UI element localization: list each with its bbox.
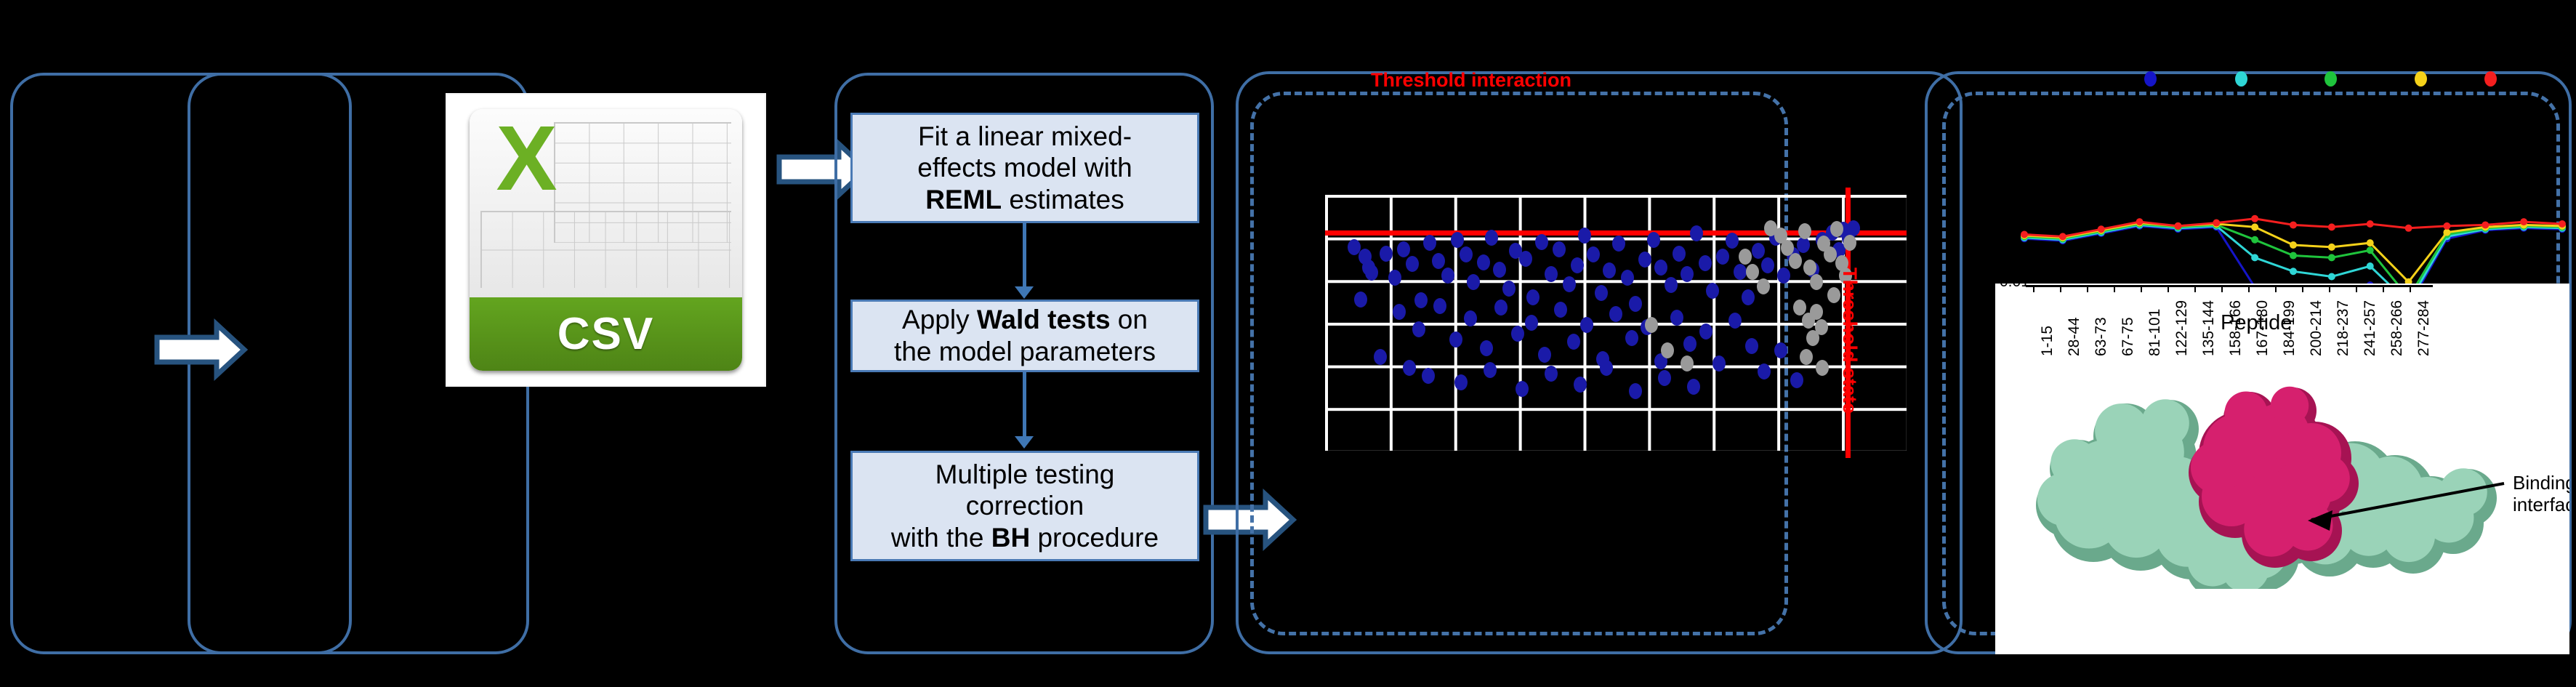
scatter-point — [1681, 355, 1694, 371]
threshold-state-label: Threshold state — [1838, 268, 1861, 414]
line-point — [2021, 231, 2028, 238]
scatter-point — [1803, 260, 1816, 276]
scatter-point — [1745, 338, 1758, 354]
line-point — [2405, 225, 2412, 232]
structure-image-card: Peptide Binding interface 1-1528-4463-73… — [1995, 284, 2569, 654]
scatter-point — [1519, 251, 1532, 267]
scatter-point — [1687, 379, 1700, 395]
scatter-point — [1580, 317, 1593, 333]
excel-x-glyph: X — [486, 113, 568, 203]
scatter-point — [1493, 262, 1506, 278]
scatter-point — [1454, 374, 1468, 390]
scatter-point — [1460, 246, 1473, 262]
scatter-point — [1798, 223, 1811, 239]
scatter-point — [1757, 278, 1770, 294]
scatter-point — [1432, 253, 1445, 269]
wald-pre: Apply — [902, 305, 977, 334]
peptide-tick-label: 184-199 — [2281, 300, 2298, 356]
scatter-point — [1789, 253, 1802, 269]
scatter-point — [1545, 266, 1558, 282]
line-point — [2136, 218, 2144, 225]
line-point — [2520, 218, 2527, 225]
peptide-tick-mark — [2275, 286, 2277, 292]
peptide-tick-mark — [2302, 286, 2303, 292]
scatter-point — [1815, 319, 1828, 335]
scatter-point — [1571, 257, 1584, 273]
legend-dot-0 — [2144, 71, 2157, 87]
line-point — [2251, 254, 2258, 261]
legend-dot-1 — [2235, 71, 2247, 87]
line-point — [2059, 233, 2066, 240]
scatter-point — [1406, 256, 1419, 272]
scatter-point — [1658, 370, 1671, 386]
scatter-point — [1843, 235, 1856, 251]
line-point — [2328, 254, 2335, 261]
scatter-point — [1810, 304, 1823, 320]
scatter-point — [1790, 372, 1803, 388]
scatter-point — [1451, 232, 1464, 248]
line-point — [2290, 241, 2297, 249]
line-point — [2367, 262, 2374, 270]
protein-structure-image — [2024, 349, 2533, 589]
scatter-point — [1348, 239, 1361, 255]
peptide-tick-mark — [2383, 286, 2384, 292]
wald-line2: the model parameters — [894, 337, 1156, 366]
line-point — [2290, 252, 2297, 260]
line-point — [2559, 220, 2566, 228]
peptide-tick-label: 135-144 — [2200, 300, 2218, 356]
csv-spreadsheet-face: X — [470, 109, 743, 297]
scatter-point — [1625, 330, 1638, 346]
scatter-point — [1734, 264, 1747, 280]
scatter-point — [1535, 234, 1548, 250]
arrow-step-1 — [154, 318, 249, 381]
csv-grid-lower — [480, 211, 732, 288]
step-fit-model-box[interactable]: Fit a linear mixed- effects model with R… — [850, 113, 1199, 223]
scatter-point — [1647, 232, 1660, 248]
scatter-point — [1403, 360, 1416, 376]
peptide-tick-mark — [2168, 286, 2169, 292]
line-point — [2328, 223, 2335, 230]
peptide-tick-mark — [2221, 286, 2223, 292]
step-correction-box[interactable]: Multiple testing correction with the BH … — [850, 451, 1199, 561]
scatter-point — [1830, 221, 1843, 237]
peptide-tick-mark — [2410, 286, 2411, 292]
scatter-point — [1484, 362, 1497, 378]
csv-icon-body: X CSV — [470, 109, 743, 371]
peptide-tick-label: 218-237 — [2335, 300, 2352, 356]
scatter-point — [1354, 292, 1367, 308]
y-axis-tick-label: 0.01 — [2000, 284, 2029, 291]
scatter-point — [1699, 255, 1712, 271]
line-point — [2482, 221, 2489, 228]
peptide-tick-mark — [2087, 286, 2088, 292]
line-point — [2174, 222, 2181, 230]
peptide-tick-mark — [2356, 286, 2357, 292]
peptide-tick-label: 277-284 — [2415, 300, 2433, 356]
line-point — [2328, 273, 2335, 281]
peptide-tick-mark — [2248, 286, 2250, 292]
connector-2 — [1023, 372, 1026, 436]
line-point — [2290, 268, 2297, 275]
fit-line2: effects model with — [917, 153, 1132, 182]
line-point — [2367, 246, 2374, 254]
scatter-point — [1774, 342, 1787, 358]
legend-dot-2 — [2325, 71, 2337, 87]
scatter-point — [1600, 360, 1613, 376]
scatter-plot[interactable] — [1325, 195, 1907, 451]
line-point — [2328, 244, 2335, 251]
scatter-point — [1578, 228, 1591, 244]
fit-bold-reml: REML — [925, 185, 1002, 214]
peptide-tick-mark — [2194, 286, 2196, 292]
step-wald-box[interactable]: Apply Wald tests on the model parameters — [850, 300, 1199, 372]
corr-bold-bh: BH — [991, 523, 1030, 553]
scatter-point — [1423, 235, 1436, 251]
connector-1-arrowhead — [1015, 286, 1034, 299]
peptide-tick-mark — [2329, 286, 2330, 292]
corr-line1: Multiple testing — [935, 459, 1115, 489]
scatter-point — [1629, 383, 1642, 399]
peptide-tick-label: 200-214 — [2308, 300, 2325, 356]
peptide-tick-label: 167-180 — [2254, 300, 2271, 356]
connector-2-arrowhead — [1015, 436, 1034, 449]
scatter-point — [1526, 289, 1539, 305]
line-point — [2213, 220, 2220, 227]
connector-1 — [1023, 223, 1026, 286]
scatter-point — [1810, 274, 1823, 290]
scatter-point — [1742, 289, 1755, 305]
peptide-tick-label: 158-166 — [2227, 300, 2245, 356]
line-point — [2443, 229, 2450, 236]
csv-file-icon[interactable]: X CSV — [447, 95, 765, 385]
scatter-point — [1374, 349, 1387, 365]
peptide-tick-mark — [2114, 286, 2115, 292]
corr-post3: procedure — [1030, 523, 1159, 553]
line-point — [2290, 221, 2297, 228]
scatter-point — [1665, 277, 1678, 293]
scatter-point — [1587, 246, 1600, 262]
scatter-point — [1516, 381, 1529, 397]
scatter-point — [1752, 243, 1765, 259]
csv-format-label: CSV — [558, 308, 654, 360]
peptide-tick-label: 258-266 — [2388, 300, 2406, 356]
scatter-point — [1433, 298, 1446, 314]
scatter-point — [1712, 355, 1726, 371]
step-wald-text: Apply Wald tests on the model parameters — [894, 304, 1156, 367]
legend-dot-3 — [2415, 71, 2427, 87]
peptide-tick-mark — [2141, 286, 2142, 292]
wald-bold: Wald tests — [977, 305, 1111, 334]
scatter-point — [1739, 249, 1752, 265]
legend-dot-4 — [2484, 71, 2497, 87]
scatter-point — [1847, 220, 1860, 236]
line-point — [2251, 223, 2258, 230]
peptide-tick-label: 122-129 — [2173, 300, 2191, 356]
scatter-point — [1654, 260, 1667, 276]
scatter-point — [1477, 254, 1490, 270]
line-point — [2367, 220, 2374, 228]
step-correction-text: Multiple testing correction with the BH … — [891, 459, 1159, 554]
peptide-tick-label: 241-257 — [2362, 300, 2379, 356]
fit-line3-tail: estimates — [1002, 185, 1124, 214]
scatter-point — [1645, 317, 1658, 333]
corr-pre3: with the — [891, 523, 991, 553]
scatter-point — [1690, 225, 1703, 241]
line-point — [2251, 236, 2258, 244]
threshold-interaction-label: Threshold interaction — [1371, 69, 1571, 92]
scatter-point — [1746, 264, 1759, 280]
scatter-point — [1681, 266, 1694, 282]
csv-format-band: CSV — [470, 297, 743, 371]
scatter-point — [1716, 249, 1729, 265]
scatter-point — [1797, 237, 1810, 253]
scatter-point — [1464, 310, 1477, 326]
line-point — [2443, 222, 2450, 230]
scatter-point — [1764, 220, 1777, 236]
scatter-point — [1816, 360, 1829, 376]
scatter-point — [1553, 241, 1566, 257]
line-point — [2367, 239, 2374, 246]
line-point — [2098, 225, 2105, 233]
scatter-point — [1365, 265, 1378, 281]
scatter-point — [1629, 296, 1642, 312]
step-fit-model-text: Fit a linear mixed- effects model with R… — [917, 121, 1132, 216]
scatter-point — [1412, 321, 1425, 337]
peptide-tick-mark — [2033, 286, 2034, 292]
scatter-point — [1673, 246, 1686, 262]
peptide-tick-mark — [2060, 286, 2061, 292]
scatter-point — [1449, 332, 1462, 347]
scatter-point — [1485, 230, 1498, 246]
scatter-point — [1761, 257, 1774, 273]
line-point — [2251, 215, 2258, 222]
wald-post: on — [1111, 305, 1148, 334]
corr-line2: correction — [966, 491, 1084, 521]
scatter-point — [1414, 292, 1428, 308]
scatter-point — [1511, 326, 1524, 342]
fit-line1: Fit a linear mixed- — [918, 121, 1132, 151]
